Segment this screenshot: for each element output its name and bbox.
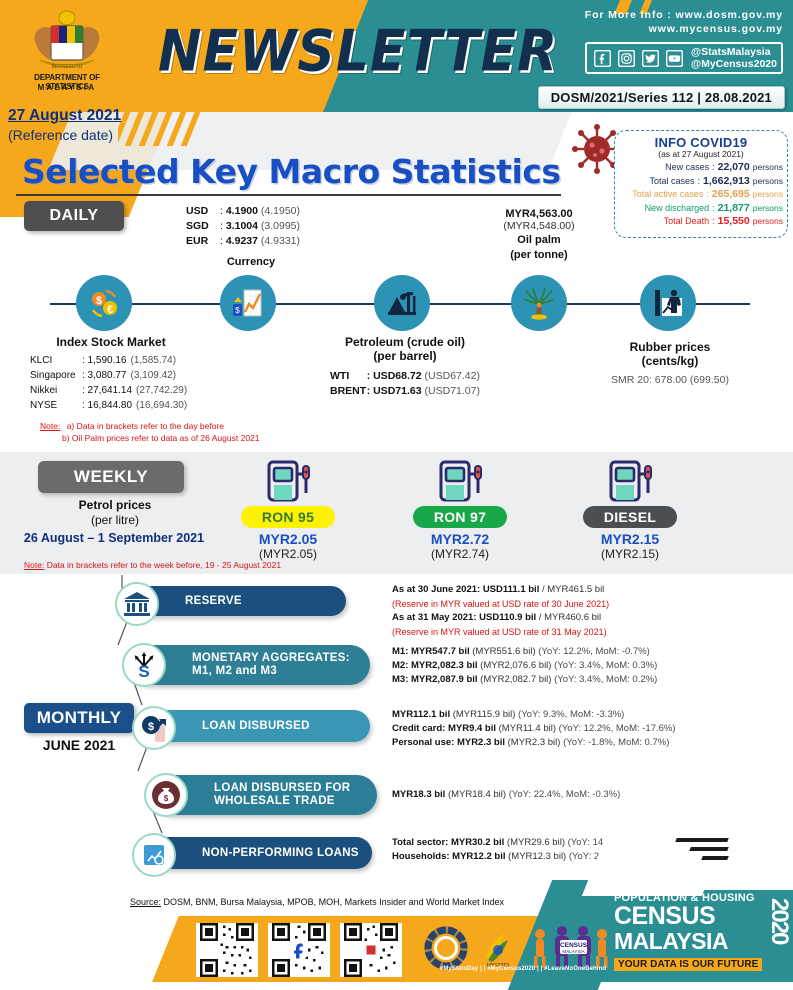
title-stripes bbox=[118, 110, 298, 150]
petroleum-previous: (USD71.07) bbox=[425, 384, 480, 399]
currency-caption: Currency bbox=[186, 256, 316, 268]
petroleum-name: WTI bbox=[330, 369, 367, 384]
petrol-prices-label: Petrol prices bbox=[10, 498, 220, 512]
stock-name: NYSE bbox=[16, 398, 82, 413]
daily-note: Note: a) Data in brackets refer to the d… bbox=[40, 420, 260, 444]
weekly-note-text: Data in brackets refer to the week befor… bbox=[47, 560, 281, 570]
currency-previous: (4.9331) bbox=[261, 235, 300, 247]
stock-value: : 16,844.80 bbox=[82, 398, 132, 413]
covid-row-unit: persons bbox=[753, 202, 783, 216]
more-info-line2: www.mycensus.gov.my bbox=[533, 22, 783, 36]
facebook-icon[interactable] bbox=[593, 48, 613, 68]
footer-hashtags: #MyStatsDay | | #MyCensus2020 | | #Leave… bbox=[418, 966, 628, 972]
dept-name-line2: MALAYSIA bbox=[12, 83, 122, 92]
fuel-pump-icon bbox=[570, 460, 690, 504]
monthly-value-line: M2: MYR2,082.3 bil (MYR2,076.6 bil) (YoY… bbox=[392, 659, 657, 673]
source-text: DOSM, BNM, Bursa Malaysia, MPOB, MOH, Ma… bbox=[164, 897, 504, 907]
covid-info-box: INFO COVID19 (as at 27 August 2021) New … bbox=[614, 130, 788, 238]
covid-row: New discharged:21,877persons bbox=[615, 202, 783, 216]
qr-code-facebook[interactable] bbox=[268, 923, 330, 977]
svg-text:S: S bbox=[138, 662, 149, 680]
covid-row-label: Total active cases bbox=[632, 188, 703, 202]
stock-market-icon: $ € bbox=[76, 275, 132, 331]
oil-palm-previous: (MYR4,548.00) bbox=[478, 220, 600, 232]
npl-icon bbox=[132, 833, 176, 877]
covid-row: New cases:22,070persons bbox=[615, 161, 783, 175]
handle-statsmalaysia: @StatsMalaysia bbox=[691, 46, 777, 58]
newsletter-wordmark: NEWSLETTER bbox=[158, 19, 558, 85]
oil-palm-value: MYR4,563.00 bbox=[478, 208, 600, 220]
stock-name: KLCI bbox=[16, 353, 82, 368]
weekly-note: Note: Data in brackets refer to the week… bbox=[24, 560, 281, 570]
svg-text:BERSEKUTU: BERSEKUTU bbox=[52, 64, 83, 70]
source-label: Source: bbox=[130, 897, 161, 907]
social-handles: @StatsMalaysia @MyCensus2020 bbox=[691, 46, 777, 70]
stock-market-block: Index Stock Market KLCI: 1,590.16(1,585.… bbox=[16, 335, 206, 413]
covid-row-label: Total cases bbox=[649, 175, 694, 189]
currency-value: 3.1004 bbox=[226, 220, 258, 232]
currency-row: EUR: 4.9237 (4.9331) bbox=[186, 234, 300, 249]
petroleum-value: : USD68.72 bbox=[367, 369, 422, 384]
svg-text:MALAYSIA: MALAYSIA bbox=[562, 949, 584, 954]
social-links[interactable]: @StatsMalaysia @MyCensus2020 bbox=[585, 42, 783, 74]
svg-text:$: $ bbox=[96, 295, 102, 307]
stock-market-rows: KLCI: 1,590.16(1,585.74)Singapore: 3,080… bbox=[16, 353, 206, 413]
petroleum-row: WTI: USD68.72(USD67.42) bbox=[330, 369, 480, 384]
census-mascot-icon: CENSUS MALAYSIA bbox=[528, 922, 618, 970]
covid-row-label: New cases bbox=[665, 161, 709, 175]
stock-previous: (27,742.29) bbox=[136, 383, 187, 398]
census-logo: POPULATION & HOUSING CENSUS MALAYSIA 202… bbox=[614, 892, 793, 982]
stock-row: Nikkei: 27,641.14(27,742.29) bbox=[16, 383, 206, 398]
currency-code: USD bbox=[186, 204, 220, 219]
monthly-value-line: Personal use: MYR2.3 bil (MYR2.3 bil) (Y… bbox=[392, 736, 676, 750]
covid-row-unit: persons bbox=[753, 161, 783, 175]
currency-row: SGD: 3.1004 (3.0995) bbox=[186, 219, 300, 234]
page-title: Selected Key Macro Statistics bbox=[22, 152, 560, 191]
stock-previous: (1,585.74) bbox=[130, 353, 176, 368]
stock-row: NYSE: 16,844.80(16,694.30) bbox=[16, 398, 206, 413]
malaysia-coat-of-arms-icon: BERSEKUTU bbox=[18, 8, 116, 78]
svg-text:$: $ bbox=[148, 721, 154, 733]
currency-chart-icon: $ bbox=[220, 275, 276, 331]
stock-row: Singapore: 3,080.77(3,109.42) bbox=[16, 368, 206, 383]
currency-value: 4.9237 bbox=[226, 235, 258, 247]
decorative-lines bbox=[676, 838, 728, 865]
stock-value: : 3,080.77 bbox=[82, 368, 126, 383]
monthly-row-label: LOAN DISBURSED FORWHOLESALE TRADE bbox=[214, 782, 350, 808]
currency-row: USD: 4.1900 (4.1950) bbox=[186, 204, 300, 219]
monthly-row-bar[interactable]: MONETARY AGGREGATES:M1, M2 and M3 bbox=[130, 645, 370, 685]
census-year: 2020 bbox=[768, 898, 790, 943]
reference-date: 27 August 2021 bbox=[8, 107, 121, 125]
petroleum-previous: (USD67.42) bbox=[425, 369, 480, 384]
source-line: Source: DOSM, BNM, Bursa Malaysia, MPOB,… bbox=[130, 897, 504, 907]
stock-row: KLCI: 1,590.16(1,585.74) bbox=[16, 353, 206, 368]
monthly-row-label: NON-PERFORMING LOANS bbox=[202, 847, 359, 860]
petroleum-name: BRENT bbox=[330, 384, 367, 399]
monthly-value-line: M3: MYR2,087.9 bil (MYR2,082.7 bil) (YoY… bbox=[392, 673, 657, 687]
monthly-row-values: M1: MYR547.7 bil (MYR551.6 bil) (YoY: 12… bbox=[392, 645, 657, 687]
currency-code: SGD bbox=[186, 219, 220, 234]
covid-row: Total Death:15,550persons bbox=[615, 215, 783, 229]
daily-badge: DAILY bbox=[24, 201, 124, 231]
monthly-value-line: As at 31 May 2021: USD110.9 bil / MYR460… bbox=[392, 611, 609, 625]
weekly-note-label: Note: bbox=[24, 560, 44, 570]
petroleum-pumpjack-icon bbox=[374, 275, 430, 331]
stock-name: Singapore bbox=[16, 368, 82, 383]
monthly-value-line: (Reserve in MYR valued at USD rate of 31… bbox=[392, 625, 609, 639]
monthly-value-line: MYR112.1 bil (MYR115.9 bil) (YoY: 9.3%, … bbox=[392, 708, 676, 722]
newsletter-page: BERSEKUTU DEPARTMENT OF STATISTICS MALAY… bbox=[0, 0, 793, 982]
stock-value: : 1,590.16 bbox=[82, 353, 126, 368]
svg-text:$: $ bbox=[164, 794, 169, 803]
stock-market-title: Index Stock Market bbox=[16, 335, 206, 349]
covid-row: Total cases:1,662,913persons bbox=[615, 175, 783, 189]
fuel-type-pill: DIESEL bbox=[583, 506, 677, 528]
oil-palm-label2: (per tonne) bbox=[478, 249, 600, 262]
covid-rows: New cases:22,070personsTotal cases:1,662… bbox=[615, 161, 787, 229]
petroleum-title2: (per barrel) bbox=[330, 349, 480, 363]
covid-row-value: 21,877 bbox=[718, 202, 750, 216]
currency-value: 4.1900 bbox=[226, 205, 258, 217]
covid-row-unit: persons bbox=[753, 215, 783, 229]
petroleum-block: Petroleum (crude oil) (per barrel) WTI: … bbox=[330, 335, 480, 399]
svg-text:€: € bbox=[107, 304, 113, 316]
sdg-wheel-icon bbox=[424, 926, 468, 970]
twitter-icon[interactable] bbox=[641, 48, 661, 68]
petroleum-row: BRENT: USD71.63(USD71.07) bbox=[330, 384, 480, 399]
covid-row-value: 15,550 bbox=[718, 215, 750, 229]
fuel-price: MYR2.05 bbox=[228, 531, 348, 547]
rubber-price-icon bbox=[640, 275, 696, 331]
monthly-row-label: LOAN DISBURSED bbox=[202, 720, 310, 733]
petroleum-value: : USD71.63 bbox=[367, 384, 422, 399]
fuel-previous-price: (MYR2.74) bbox=[400, 547, 520, 561]
daily-note-b: b) Oil Palm prices refer to data as of 2… bbox=[40, 432, 260, 444]
monthly-row-values: MYR112.1 bil (MYR115.9 bil) (YoY: 9.3%, … bbox=[392, 708, 676, 750]
youtube-icon[interactable] bbox=[665, 48, 685, 68]
svg-text:CENSUS: CENSUS bbox=[560, 942, 588, 949]
covid-row: Total active cases:265,695persons bbox=[615, 188, 783, 202]
fuel-column: RON 95MYR2.05(MYR2.05) bbox=[228, 460, 348, 561]
currency-previous: (3.0995) bbox=[261, 220, 300, 232]
monthly-value-line: M1: MYR547.7 bil (MYR551.6 bil) (YoY: 12… bbox=[392, 645, 657, 659]
stock-previous: (3,109.42) bbox=[130, 368, 176, 383]
covid-row-label: New discharged bbox=[645, 202, 710, 216]
monthly-value-line: MYR18.3 bil (MYR18.4 bil) (YoY: 22.4%, M… bbox=[392, 788, 620, 802]
currency-code: EUR bbox=[186, 234, 220, 249]
weekly-date-range: 26 August – 1 September 2021 bbox=[6, 531, 222, 545]
oil-palm-block: MYR4,563.00 (MYR4,548.00) Oil palm (per … bbox=[478, 208, 600, 262]
oil-palm-tree-icon bbox=[511, 275, 567, 331]
rubber-block: Rubber prices (cents/kg) SMR 20: 678.00 … bbox=[590, 340, 750, 386]
fuel-column: RON 97MYR2.72(MYR2.74) bbox=[400, 460, 520, 561]
monthly-row-values: MYR18.3 bil (MYR18.4 bil) (YoY: 22.4%, M… bbox=[392, 788, 620, 802]
census-tagline: YOUR DATA IS OUR FUTURE bbox=[614, 958, 762, 971]
instagram-icon[interactable] bbox=[617, 48, 637, 68]
fuel-pump-icon bbox=[400, 460, 520, 504]
qr-code-dosm[interactable] bbox=[196, 923, 258, 977]
covid-subtitle: (as at 27 August 2021) bbox=[615, 149, 787, 159]
weekly-badge: WEEKLY bbox=[38, 461, 184, 493]
fuel-pump-icon bbox=[228, 460, 348, 504]
covid-row-value: 265,695 bbox=[712, 188, 750, 202]
daily-note-label: Note: bbox=[40, 421, 60, 431]
title-divider bbox=[16, 194, 561, 196]
fuel-price: MYR2.15 bbox=[570, 531, 690, 547]
currency-previous: (4.1950) bbox=[261, 205, 300, 217]
reference-date-sublabel: (Reference date) bbox=[8, 127, 113, 143]
daily-note-a: a) Data in brackets refer to the day bef… bbox=[63, 421, 224, 431]
covid-row-value: 22,070 bbox=[718, 161, 750, 175]
rubber-title2: (cents/kg) bbox=[590, 354, 750, 368]
fuel-previous-price: (MYR2.05) bbox=[228, 547, 348, 561]
stock-name: Nikkei bbox=[16, 383, 82, 398]
rubber-value: SMR 20: 678.00 (699.50) bbox=[590, 374, 750, 386]
monthly-row-values: As at 30 June 2021: USD111.1 bil / MYR46… bbox=[392, 583, 609, 639]
money-supply-icon: S bbox=[122, 643, 166, 687]
monthly-row-label: MONETARY AGGREGATES:M1, M2 and M3 bbox=[192, 652, 350, 678]
fuel-type-pill: RON 97 bbox=[413, 506, 507, 528]
fuel-previous-price: (MYR2.15) bbox=[570, 547, 690, 561]
qr-code-mycensus[interactable] bbox=[340, 923, 402, 977]
monthly-value-line: Credit card: MYR9.4 bil (MYR11.4 bil) (Y… bbox=[392, 722, 676, 736]
monthly-value-line: (Reserve in MYR valued at USD rate of 30… bbox=[392, 597, 609, 611]
petroleum-title1: Petroleum (crude oil) bbox=[330, 335, 480, 349]
page-header: BERSEKUTU DEPARTMENT OF STATISTICS MALAY… bbox=[0, 0, 793, 112]
covid-row-label: Total Death bbox=[664, 215, 710, 229]
more-info-line1: For More Info : www.dosm.gov.my bbox=[533, 8, 783, 22]
money-bag-icon: $ bbox=[144, 773, 188, 817]
handle-mycensus2020: @MyCensus2020 bbox=[691, 58, 777, 70]
mystats-logo-icon: MYSTATS bbox=[478, 928, 518, 968]
petrol-prices-unit: (per litre) bbox=[10, 513, 220, 527]
covid-row-unit: persons bbox=[753, 175, 783, 189]
covid-title: INFO COVID19 bbox=[615, 135, 787, 150]
covid-row-value: 1,662,913 bbox=[703, 175, 750, 189]
stock-previous: (16,694.30) bbox=[136, 398, 187, 413]
covid-row-unit: persons bbox=[753, 188, 783, 202]
monthly-row-label: RESERVE bbox=[185, 595, 242, 608]
monthly-value-line: As at 30 June 2021: USD111.1 bil / MYR46… bbox=[392, 583, 609, 597]
fuel-type-pill: RON 95 bbox=[241, 506, 335, 528]
petroleum-rows: WTI: USD68.72(USD67.42)BRENT: USD71.63(U… bbox=[330, 369, 480, 399]
currency-values: USD: 4.1900 (4.1950)SGD: 3.1004 (3.0995)… bbox=[186, 204, 300, 249]
oil-palm-label1: Oil palm bbox=[478, 234, 600, 247]
loan-icon: $ bbox=[132, 706, 176, 750]
stock-value: : 27,641.14 bbox=[82, 383, 132, 398]
svg-text:$: $ bbox=[235, 306, 240, 315]
fuel-price: MYR2.72 bbox=[400, 531, 520, 547]
bank-icon bbox=[115, 582, 159, 626]
more-info-block: For More Info : www.dosm.gov.my www.myce… bbox=[533, 8, 783, 36]
fuel-column: DIESELMYR2.15(MYR2.15) bbox=[570, 460, 690, 561]
series-badge: DOSM/2021/Series 112 | 28.08.2021 bbox=[538, 86, 785, 109]
rubber-title1: Rubber prices bbox=[590, 340, 750, 354]
